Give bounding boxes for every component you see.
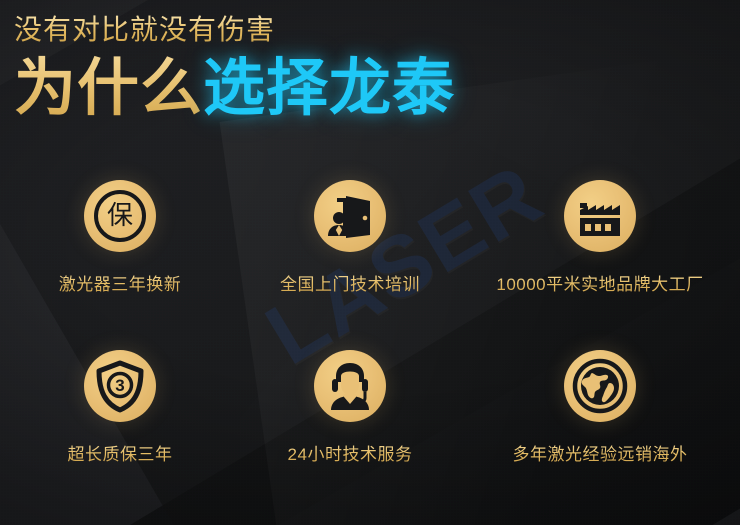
feature-item-three-year-warranty[interactable]: 3 超长质保三年 (0, 350, 240, 520)
feature-item-onsite-training[interactable]: 全国上门技术培训 (240, 180, 460, 350)
feature-item-24h-support[interactable]: 24小时技术服务 (240, 350, 460, 520)
page-title-cyan-part: 选择龙泰 (203, 54, 455, 123)
feature-label: 超长质保三年 (68, 440, 173, 465)
feature-item-overseas-export[interactable]: 多年激光经验远销海外 (460, 350, 740, 520)
page-title: 为什么选择龙泰 (14, 56, 455, 123)
globe-icon (564, 350, 636, 422)
feature-label: 24小时技术服务 (288, 440, 413, 465)
headset-support-icon (314, 350, 386, 422)
feature-grid: 保 激光器三年换新 全 (0, 180, 740, 520)
svg-text:3: 3 (115, 376, 124, 395)
headline-subtitle: 没有对比就没有伤害 (14, 14, 455, 46)
page-title-gold-part: 为什么 (14, 54, 203, 123)
feature-label: 多年激光经验远销海外 (513, 440, 688, 465)
feature-item-laser-replacement[interactable]: 保 激光器三年换新 (0, 180, 240, 350)
feature-label: 激光器三年换新 (59, 270, 182, 295)
promo-banner: LASER 没有对比就没有伤害 为什么选择龙泰 保 激光器三年换新 (0, 0, 740, 525)
feature-item-factory[interactable]: 10000平米实地品牌大工厂 (460, 180, 740, 350)
factory-icon (564, 180, 636, 252)
feature-label: 全国上门技术培训 (280, 270, 420, 295)
svg-text:保: 保 (107, 201, 133, 231)
shield-three-year-icon: 3 (84, 350, 156, 422)
insurance-badge-icon: 保 (84, 180, 156, 252)
feature-label: 10000平米实地品牌大工厂 (496, 270, 703, 295)
headline-block: 没有对比就没有伤害 为什么选择龙泰 (14, 14, 455, 123)
door-to-door-service-icon (314, 180, 386, 252)
